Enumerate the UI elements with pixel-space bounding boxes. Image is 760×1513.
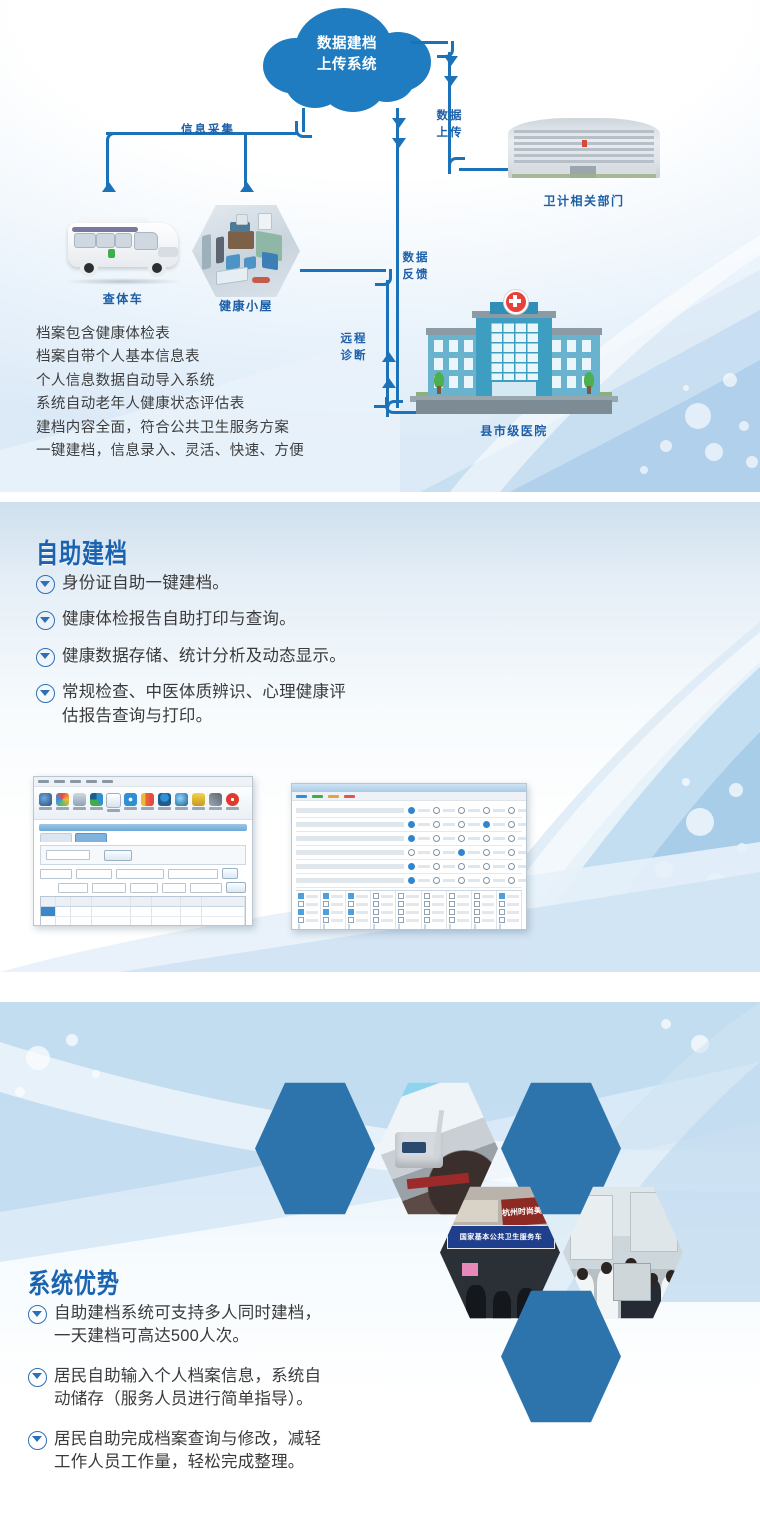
more-button[interactable] bbox=[222, 868, 238, 879]
cloud-line-2: 上传系统 bbox=[317, 55, 377, 76]
chevron-down-circle-icon bbox=[28, 1305, 47, 1324]
node-label-van: 查体车 bbox=[62, 290, 184, 307]
connector-remote-corner-bottom bbox=[386, 400, 403, 417]
question-row[interactable] bbox=[296, 818, 522, 832]
tab-active[interactable] bbox=[75, 833, 107, 842]
keyword-field[interactable] bbox=[168, 869, 218, 879]
form-toolbar bbox=[292, 792, 526, 801]
arrow-remote-2 bbox=[382, 378, 396, 388]
poster-page: 数据建档 上传系统 数据 上传 数据 反馈 信息采集 bbox=[0, 0, 760, 1513]
check-a[interactable] bbox=[130, 883, 158, 893]
toolbar-icon-chart-pie[interactable] bbox=[89, 793, 104, 815]
grid-column[interactable] bbox=[321, 891, 346, 930]
arrow-remote-1 bbox=[382, 352, 396, 362]
status-field[interactable] bbox=[76, 869, 112, 879]
app-tabstrip[interactable] bbox=[40, 833, 246, 842]
flow-label-collect: 信息采集 bbox=[158, 122, 258, 139]
arrow-collect-van bbox=[102, 182, 116, 192]
app-window-title bbox=[39, 824, 247, 831]
question-row[interactable] bbox=[296, 874, 522, 888]
query-button[interactable] bbox=[104, 850, 132, 861]
person-field[interactable] bbox=[58, 883, 88, 893]
toolbar-icon-settings[interactable] bbox=[123, 793, 138, 815]
list-item: 健康数据存储、统计分析及动态显示。 bbox=[36, 645, 506, 668]
grid-column[interactable] bbox=[422, 891, 447, 930]
check-c[interactable] bbox=[190, 883, 222, 893]
connector-upload-corner-bottom bbox=[448, 157, 465, 174]
constitution-grid bbox=[296, 890, 522, 930]
app-toolbar bbox=[34, 787, 252, 820]
connector-remote-h bbox=[300, 269, 386, 272]
section3-title: 系统优势 bbox=[28, 1262, 120, 1301]
grid-column[interactable] bbox=[447, 891, 472, 930]
connector-remote-v bbox=[386, 280, 389, 410]
chevron-down-circle-icon bbox=[36, 575, 55, 594]
flow-label-remote: 远程 诊断 bbox=[334, 331, 374, 364]
app-filter-row-2 bbox=[40, 882, 246, 893]
app-menubar bbox=[34, 777, 252, 787]
app-data-grid[interactable] bbox=[40, 896, 246, 926]
grid-column[interactable] bbox=[396, 891, 421, 930]
hospital-cross-icon bbox=[504, 290, 528, 314]
chevron-down-circle-icon bbox=[28, 1431, 47, 1450]
org-field[interactable] bbox=[40, 869, 72, 879]
health-hut-illustration bbox=[192, 205, 300, 297]
table-row[interactable] bbox=[41, 917, 245, 926]
arrow-upload-2 bbox=[444, 76, 458, 86]
export-button[interactable] bbox=[226, 882, 246, 893]
toolbar-icon-document[interactable] bbox=[106, 793, 121, 815]
toolbar-icon-exit[interactable] bbox=[225, 793, 240, 815]
photo-banner-text: 国家基本公共卫生服务车 bbox=[447, 1225, 555, 1249]
toolbar-icon-user[interactable] bbox=[157, 793, 172, 815]
question-row[interactable] bbox=[296, 860, 522, 874]
medical-van-illustration bbox=[62, 213, 184, 285]
toolbar-icon-key[interactable] bbox=[191, 793, 206, 815]
question-row[interactable] bbox=[296, 832, 522, 846]
bullet-text: 身份证自助一键建档。 bbox=[62, 572, 229, 595]
section1-feature-list: 档案包含健康体检表 档案自带个人基本信息表 个人信息数据自动导入系统 系统自动老… bbox=[36, 323, 304, 464]
app-screenshot-archive-list bbox=[33, 776, 253, 926]
table-row[interactable] bbox=[41, 907, 245, 917]
arrow-collect-hut bbox=[240, 182, 254, 192]
bullet-text: 健康数据存储、统计分析及动态显示。 bbox=[62, 645, 346, 668]
chevron-down-circle-icon bbox=[36, 611, 55, 630]
arrow-feedback-1 bbox=[392, 118, 406, 128]
app-screenshot-assessment-form bbox=[291, 783, 527, 930]
question-row[interactable] bbox=[296, 804, 522, 818]
toolbar-icon-palette[interactable] bbox=[55, 793, 70, 815]
toolbar-icon-search[interactable] bbox=[72, 793, 87, 815]
app-filter-panel bbox=[40, 845, 246, 865]
list-item: 常规检查、中医体质辨识、心理健康评 估报告查询与打印。 bbox=[36, 681, 506, 728]
connector-collect-corner-right bbox=[295, 121, 312, 138]
flow-label-upload: 数据 上传 bbox=[430, 108, 470, 141]
list-item: 健康体检报告自助打印与查询。 bbox=[36, 608, 506, 631]
flow-label-feedback: 数据 反馈 bbox=[396, 250, 436, 283]
health-authority-building bbox=[508, 118, 660, 184]
chevron-down-circle-icon bbox=[28, 1368, 47, 1387]
section-self-service: 自助建档 身份证自助一键建档。 健康体检报告自助打印与查询。 健康数据存储、统计… bbox=[0, 502, 760, 972]
hexagon-photo-cluster: 杭州时尚美发 国家基本公共卫生服务车 bbox=[250, 1080, 670, 1500]
arrow-upload-1 bbox=[444, 56, 458, 66]
check-b[interactable] bbox=[162, 883, 186, 893]
chevron-down-circle-icon bbox=[36, 648, 55, 667]
type-field[interactable] bbox=[92, 883, 126, 893]
list-item: 身份证自助一键建档。 bbox=[36, 572, 506, 595]
arrow-feedback-2 bbox=[392, 138, 406, 148]
hexagon-solid-1 bbox=[255, 1080, 375, 1217]
date-range-field[interactable] bbox=[116, 869, 164, 879]
cloud-node: 数据建档 上传系统 bbox=[263, 8, 431, 112]
node-label-hospital: 县市级医院 bbox=[428, 422, 600, 439]
section2-title: 自助建档 bbox=[36, 532, 128, 571]
app-filter-row-1 bbox=[40, 868, 246, 879]
section-data-flow: 数据建档 上传系统 数据 上传 数据 反馈 信息采集 bbox=[0, 0, 760, 492]
node-label-hut: 健康小屋 bbox=[192, 297, 300, 314]
cloud-label: 数据建档 上传系统 bbox=[263, 8, 431, 112]
grid-column[interactable] bbox=[346, 891, 371, 930]
node-label-govt: 卫计相关部门 bbox=[508, 192, 660, 209]
toolbar-icon-globe[interactable] bbox=[174, 793, 189, 815]
date-field[interactable] bbox=[46, 850, 90, 860]
chevron-down-circle-icon bbox=[36, 684, 55, 703]
county-hospital-illustration bbox=[428, 300, 600, 418]
bullet-text: 常规检查、中医体质辨识、心理健康评 估报告查询与打印。 bbox=[62, 681, 346, 728]
cloud-line-1: 数据建档 bbox=[317, 34, 377, 55]
grid-column[interactable] bbox=[371, 891, 396, 930]
toolbar-icon-bar-chart[interactable] bbox=[140, 793, 155, 815]
grid-column[interactable] bbox=[296, 891, 321, 930]
question-row[interactable] bbox=[296, 846, 522, 860]
form-body bbox=[292, 801, 526, 930]
grid-header-row bbox=[41, 897, 245, 907]
section2-bullet-list: 身份证自助一键建档。 健康体检报告自助打印与查询。 健康数据存储、统计分析及动态… bbox=[36, 572, 506, 741]
bullet-text: 健康体检报告自助打印与查询。 bbox=[62, 608, 296, 631]
tab-inactive[interactable] bbox=[40, 833, 72, 842]
grid-column[interactable] bbox=[497, 891, 522, 930]
form-window-title bbox=[292, 784, 526, 792]
connector-remote-corner bbox=[375, 269, 392, 286]
toolbar-icon-camera[interactable] bbox=[38, 793, 53, 815]
toolbar-icon-tools[interactable] bbox=[208, 793, 223, 815]
grid-column[interactable] bbox=[472, 891, 497, 930]
